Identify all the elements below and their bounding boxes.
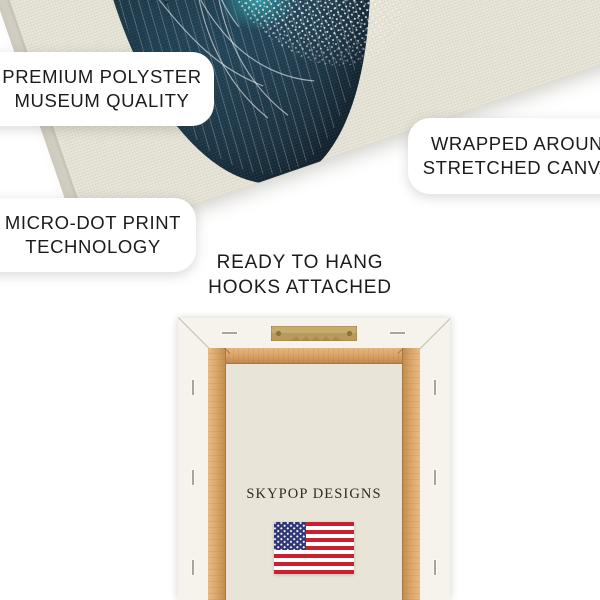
staple [192,470,194,485]
flag-stars [274,522,306,550]
sawtooth-hanger-icon [271,326,357,341]
feature-label-wrapped-line1: WRAPPED AROUND [431,132,600,156]
staple [434,380,436,395]
feature-label-ready-line2: HOOKS ATTACHED [0,275,600,300]
feature-label-ready-line1: READY TO HANG [0,250,600,275]
stretcher-bar-right [402,348,420,600]
feature-label-ready-to-hang: READY TO HANG HOOKS ATTACHED [0,250,600,301]
stretcher-bar-left [208,348,226,600]
feature-label-wrapped-around: WRAPPED AROUND STRETCHED CANVAS [408,118,600,194]
feature-label-premium-line1: PREMIUM POLYSTER [2,65,201,89]
product-infographic: PREMIUM POLYSTER MUSEUM QUALITY WRAPPED … [0,0,600,600]
staple [434,470,436,485]
staple [390,332,405,334]
staple [192,380,194,395]
corner-fold-line [178,317,210,349]
feature-label-microdot-line1: MICRO-DOT PRINT [5,211,181,235]
flag-union [274,522,306,550]
staple [192,560,194,575]
feature-label-premium-line2: MUSEUM QUALITY [15,89,190,113]
feature-label-wrapped-line2: STRETCHED CANVAS [423,156,600,180]
stretcher-miter-joint-left [208,348,230,370]
staple [434,560,436,575]
united-states-flag-icon [274,522,354,574]
corner-fold-line [419,318,451,350]
stretcher-miter-joint-right [398,348,420,370]
brand-name: SKYPOP DESIGNS [178,486,450,503]
canvas-back-view: SKYPOP DESIGNS [178,318,450,600]
staple [222,332,237,334]
stretcher-bar-top [208,348,420,364]
feature-label-premium-polyster: PREMIUM POLYSTER MUSEUM QUALITY [0,52,214,126]
